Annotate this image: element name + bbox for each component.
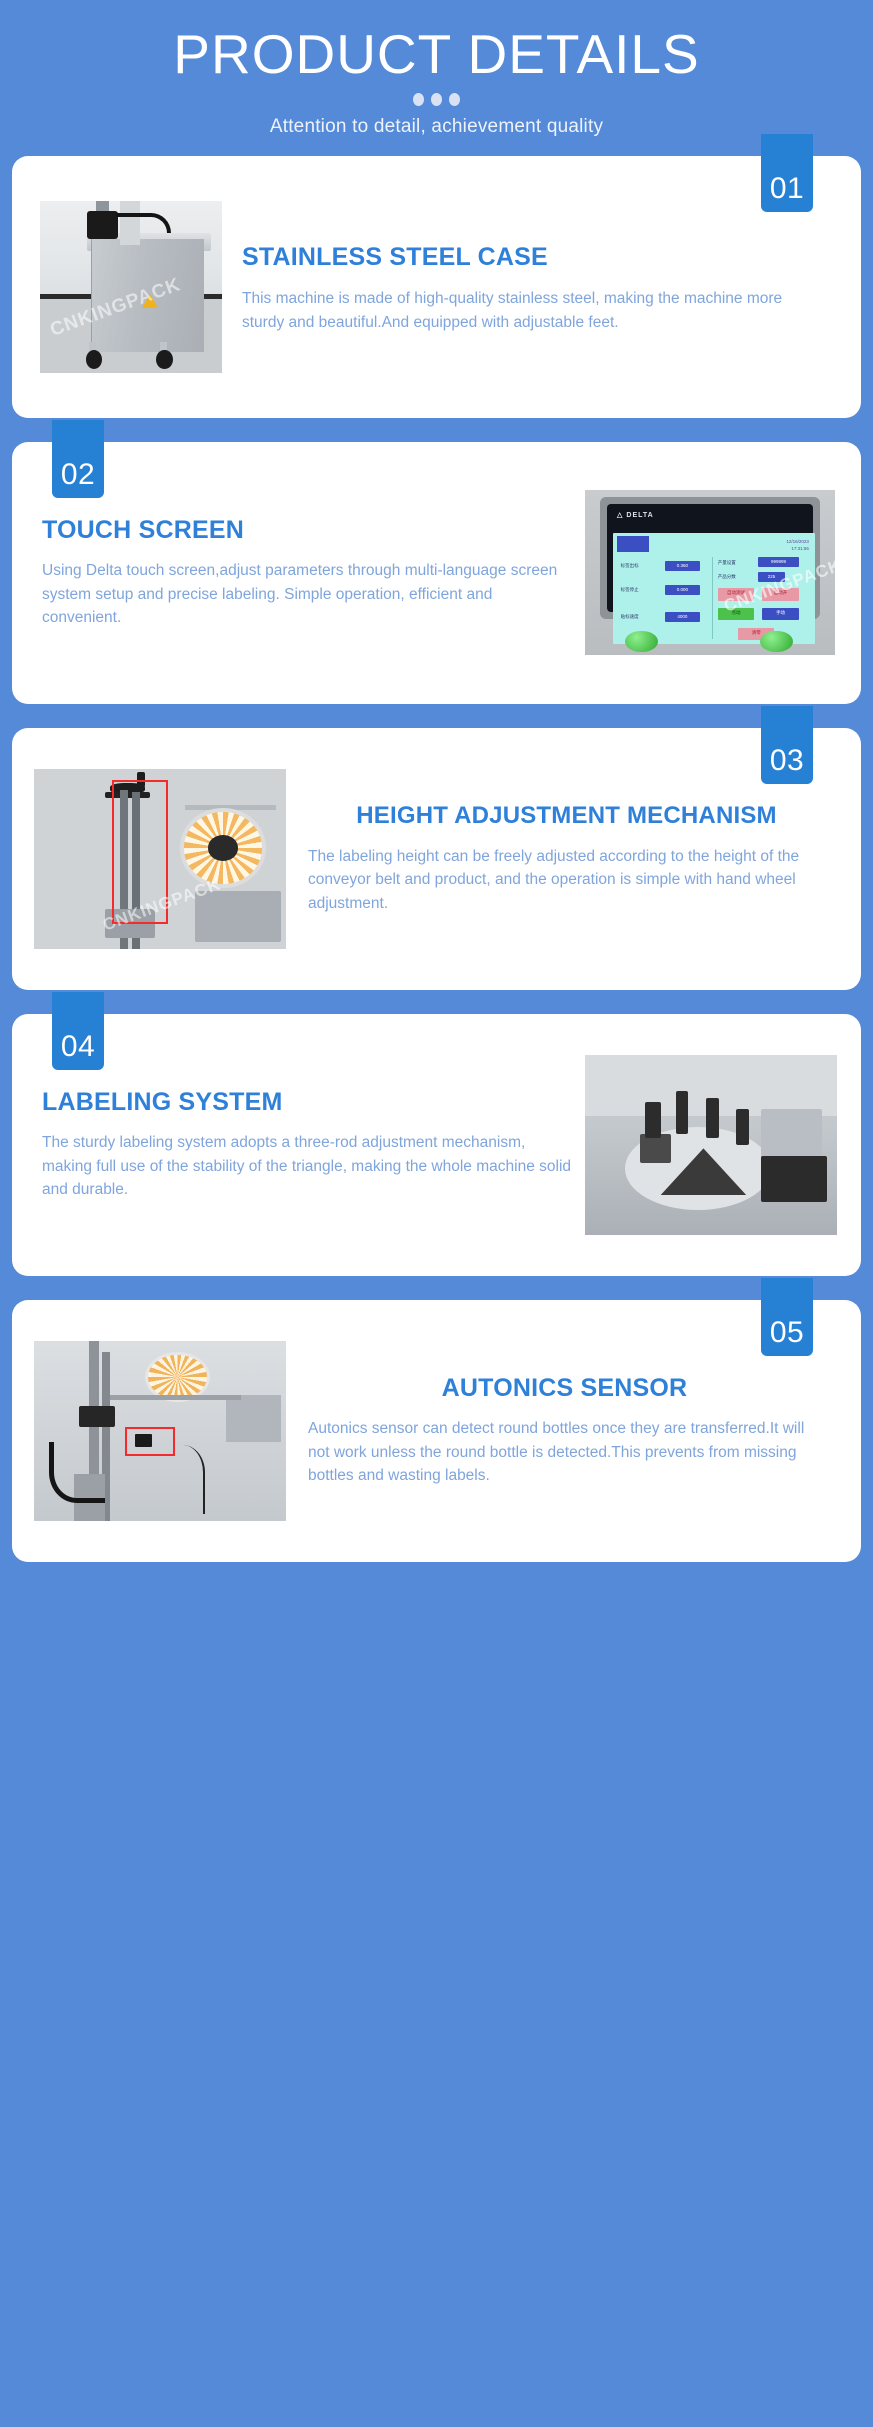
hmi-time: 17:31:56: [786, 545, 809, 553]
green-indicator-light[interactable]: [625, 631, 658, 652]
card-text-block: AUTONICS SENSOR Autonics sensor can dete…: [286, 1374, 861, 1488]
height-adjustment-photo: CNKINGPACK: [34, 769, 286, 949]
hmi-date: 12/16/2023: [786, 538, 809, 546]
dot-icon: [449, 93, 460, 106]
touch-screen-photo: DELTA 12/16/2023 17:31:56 标签出标 0.360 标签停…: [585, 490, 835, 655]
card-number-badge: 02: [52, 420, 104, 498]
labeling-system-photo: [585, 1055, 837, 1235]
hmi-button[interactable]: 自动开: [762, 588, 798, 600]
card-number-badge: 01: [761, 134, 813, 212]
card-title: HEIGHT ADJUSTMENT MECHANISM: [308, 802, 825, 830]
annotation-box: [112, 780, 167, 924]
hmi-label: 产品分数: [718, 574, 736, 580]
page-header: PRODUCT DETAILS Attention to detail, ach…: [0, 0, 873, 156]
card-title: STAINLESS STEEL CASE: [242, 243, 817, 273]
feature-card-01[interactable]: 01 CNKINGPACK STAINLESS STEEL CASE This …: [12, 156, 861, 418]
card-description: Using Delta touch screen,adjust paramete…: [42, 559, 575, 630]
page-title: PRODUCT DETAILS: [0, 26, 873, 84]
hmi-label: 标签停止: [621, 587, 639, 593]
dot-icon: [431, 93, 442, 106]
card-title: LABELING SYSTEM: [42, 1088, 571, 1118]
card-number-badge: 03: [761, 706, 813, 784]
feature-card-02[interactable]: 02 TOUCH SCREEN Using Delta touch screen…: [12, 442, 861, 704]
hmi-value[interactable]: 0.360: [665, 561, 699, 571]
hmi-label: 标签出标: [621, 563, 639, 569]
card-description: This machine is made of high-quality sta…: [242, 287, 817, 334]
stainless-steel-case-photo: CNKINGPACK: [40, 201, 222, 373]
hmi-button[interactable]: 自动测试: [718, 588, 754, 600]
card-text-block: STAINLESS STEEL CASE This machine is mad…: [222, 243, 861, 334]
card-title: AUTONICS SENSOR: [308, 1374, 821, 1404]
delta-logo: DELTA: [617, 511, 654, 519]
feature-card-04[interactable]: 04 LABELING SYSTEM The sturdy labeling s…: [12, 1014, 861, 1276]
hmi-value[interactable]: 225: [758, 572, 784, 582]
hmi-value[interactable]: 0.000: [665, 585, 699, 595]
hmi-label: 贴标速度: [621, 614, 639, 620]
card-title: TOUCH SCREEN: [42, 516, 575, 546]
annotation-box: [125, 1427, 175, 1456]
card-text-block: HEIGHT ADJUSTMENT MECHANISM The labeling…: [286, 802, 861, 915]
feature-card-03[interactable]: 03 CNKINGPACK HEIGHT ADJUSTMENT MECHANIS…: [12, 728, 861, 990]
hmi-value[interactable]: 4000: [665, 612, 699, 622]
green-indicator-light[interactable]: [760, 631, 793, 652]
page-subtitle: Attention to detail, achievement quality: [0, 116, 873, 138]
feature-card-list: 01 CNKINGPACK STAINLESS STEEL CASE This …: [0, 156, 873, 1580]
hmi-label: 产量设置: [718, 560, 736, 566]
hmi-button[interactable]: 点动: [718, 608, 754, 620]
electrical-hazard-icon: [142, 294, 158, 308]
card-description: Autonics sensor can detect round bottles…: [308, 1417, 821, 1488]
hmi-screen: 12/16/2023 17:31:56 标签出标 0.360 标签停止 0.00…: [613, 533, 816, 644]
card-number-badge: 04: [52, 992, 104, 1070]
hmi-button[interactable]: 手动: [762, 608, 798, 620]
card-description: The sturdy labeling system adopts a thre…: [42, 1131, 571, 1202]
hmi-value[interactable]: 999999: [758, 557, 799, 567]
card-text-block: TOUCH SCREEN Using Delta touch screen,ad…: [12, 516, 585, 630]
autonics-sensor-photo: [34, 1341, 286, 1521]
card-description: The labeling height can be freely adjust…: [308, 845, 825, 916]
dot-icon: [413, 93, 424, 106]
header-dots-decoration: [0, 93, 873, 106]
card-text-block: LABELING SYSTEM The sturdy labeling syst…: [12, 1088, 585, 1202]
feature-card-05[interactable]: 05 AUTONICS SENSOR Autonics sensor can d…: [12, 1300, 861, 1562]
card-number-badge: 05: [761, 1278, 813, 1356]
